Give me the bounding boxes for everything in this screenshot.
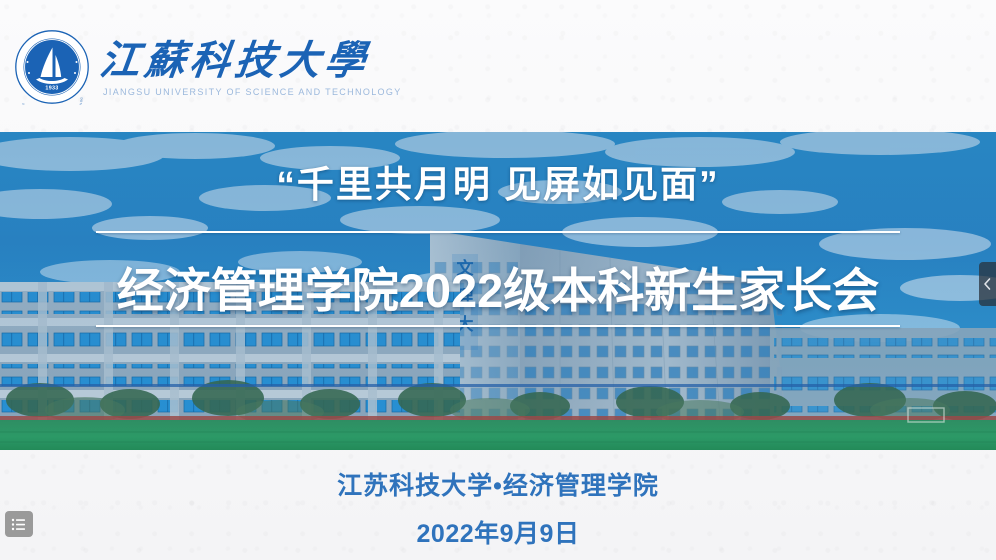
footer-organization: 江苏科技大学•经济管理学院: [337, 466, 659, 502]
page-header: 江苏科技大学 JIANGSU UNIVERSITY OF SCIENCE AND…: [0, 0, 996, 132]
divider-top: [96, 231, 900, 233]
page-footer: 江苏科技大学•经济管理学院 2022年9月9日: [0, 450, 996, 560]
list-menu-icon[interactable]: [5, 511, 33, 537]
banner-main-title: 经济管理学院2022级本科新生家长会: [0, 252, 996, 321]
university-seal-sailboat-icon: 江苏科技大学 JIANGSU UNIVERSITY OF SCIENCE AND…: [14, 29, 90, 105]
svg-text:1933: 1933: [45, 86, 58, 92]
campus-banner: 文 理 大: [0, 132, 996, 450]
footer-date: 2022年9月9日: [417, 514, 580, 550]
divider-bottom: [96, 325, 900, 327]
wordmark-chinese: 江蘇科技大學: [97, 40, 404, 82]
banner-quote-title: “千里共月明 见屏如见面”: [0, 154, 996, 208]
university-wordmark: 江蘇科技大學 JIANGSU UNIVERSITY OF SCIENCE AND…: [100, 40, 402, 97]
banner-content: “千里共月明 见屏如见面” 经济管理学院2022级本科新生家长会: [0, 132, 996, 450]
wordmark-english: JIANGSU UNIVERSITY OF SCIENCE AND TECHNO…: [100, 87, 402, 97]
chevron-left-icon[interactable]: [979, 262, 996, 306]
